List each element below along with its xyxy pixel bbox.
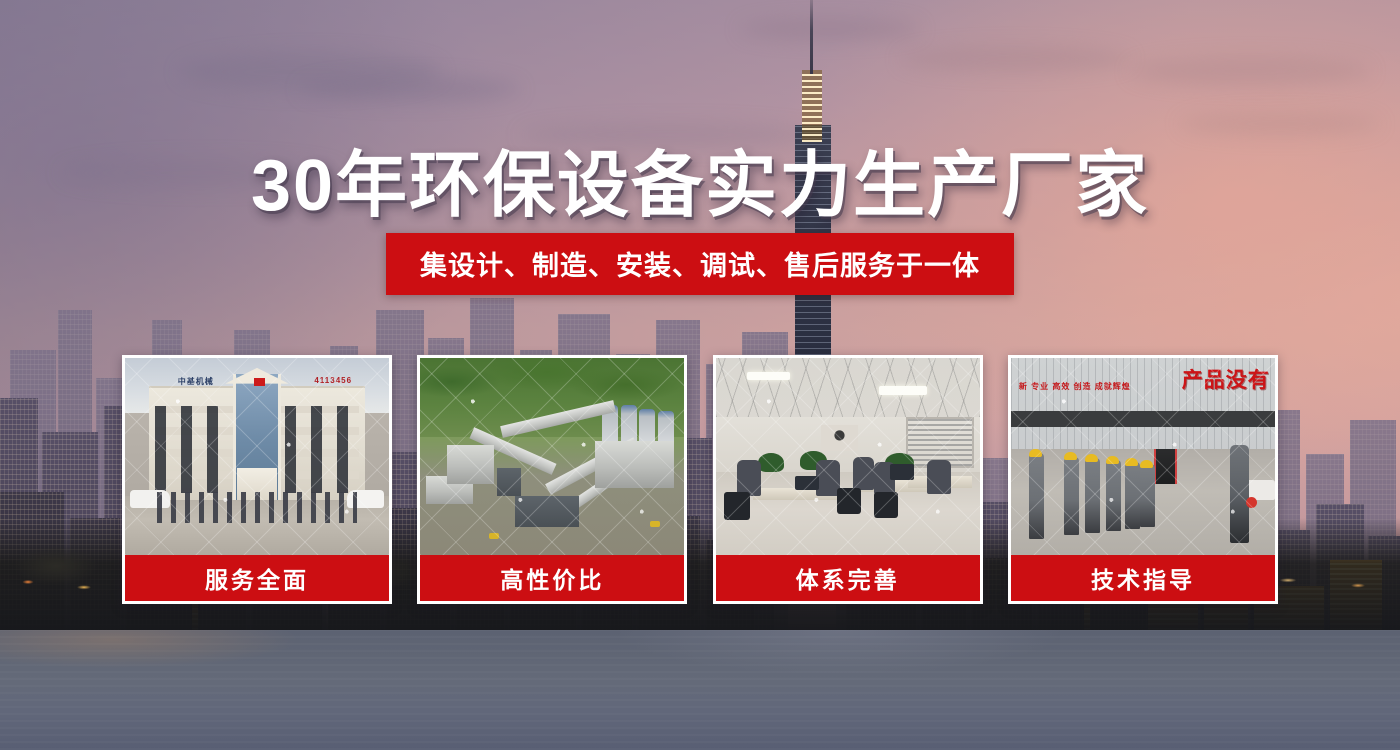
- photo-helmet: [1085, 454, 1098, 462]
- photo-ceiling-light: [747, 372, 789, 380]
- photo-plant-hall: [595, 441, 674, 488]
- photo-staff-row: [157, 492, 358, 524]
- aerial-plant-photo: [420, 358, 684, 555]
- photo-monitor: [795, 476, 819, 490]
- photo-silo: [658, 411, 674, 443]
- tower-spire: [810, 0, 813, 74]
- factory-sign-small: 新 专业 高效 创造 成就辉煌: [1019, 382, 1131, 392]
- photo-flag: [254, 378, 265, 386]
- factory-sign-big: 产品没有: [1182, 364, 1270, 394]
- photo-window-strip: [1011, 411, 1275, 427]
- subtitle-banner: 集设计、制造、安装、调试、售后服务于一体: [386, 233, 1014, 295]
- photo-chair: [837, 488, 861, 514]
- photo-scene: 中基机械 4113456: [125, 358, 389, 555]
- card-label-service: 服务全面: [125, 555, 389, 601]
- photo-factory-door: [1154, 449, 1178, 484]
- photo-plant-hall: [447, 445, 495, 484]
- building-phone-text: 4113456: [314, 376, 352, 385]
- feature-card-service[interactable]: 中基机械 4113456 服务全面: [122, 355, 392, 604]
- photo-worker: [1106, 460, 1121, 531]
- photo-wall-decal: [821, 425, 858, 451]
- photo-chair: [874, 492, 898, 518]
- company-building-staff-photo: 中基机械 4113456: [125, 358, 389, 555]
- card-label-value: 高性价比: [420, 555, 684, 601]
- photo-excavator: [650, 521, 660, 527]
- photo-ceiling: [716, 358, 980, 417]
- photo-helmet: [1064, 452, 1077, 460]
- office-interior-photo: [716, 358, 980, 555]
- photo-helmet: [1106, 456, 1119, 464]
- photo-worker: [1125, 462, 1140, 529]
- photo-silo: [639, 409, 655, 442]
- photo-plant: [758, 453, 784, 473]
- photo-helmet: [1125, 458, 1138, 466]
- river-water: [0, 630, 1400, 750]
- photo-worker: [1029, 453, 1044, 540]
- photo-worker: [1064, 457, 1079, 536]
- card-label-system: 体系完善: [716, 555, 980, 601]
- card-label-guidance: 技术指导: [1011, 555, 1275, 601]
- photo-monitor: [890, 464, 914, 480]
- feature-card-system[interactable]: 体系完善: [713, 355, 983, 604]
- feature-card-list: 中基机械 4113456 服务全面: [122, 355, 1278, 604]
- photo-worker: [1140, 464, 1155, 527]
- workers-training-photo: 产品没有 新 专业 高效 创造 成就辉煌: [1011, 358, 1275, 555]
- photo-worker: [1085, 458, 1100, 533]
- hero-banner: 30年环保设备实力生产厂家 集设计、制造、安装、调试、售后服务于一体 中基机械 …: [0, 0, 1400, 750]
- photo-scene: [716, 358, 980, 555]
- photo-shed: [497, 468, 521, 496]
- photo-ceiling-light: [879, 386, 927, 396]
- feature-card-guidance[interactable]: 产品没有 新 专业 高效 创造 成就辉煌: [1008, 355, 1278, 604]
- photo-supervisor: [1230, 445, 1249, 544]
- photo-person: [927, 460, 951, 493]
- photo-scene: 产品没有 新 专业 高效 创造 成就辉煌: [1011, 358, 1275, 555]
- page-title: 30年环保设备实力生产厂家: [0, 126, 1400, 231]
- photo-excavator: [489, 533, 499, 539]
- photo-shed: [515, 496, 578, 528]
- photo-scene: [420, 358, 684, 555]
- photo-helmet: [1140, 460, 1153, 468]
- building-sign-text: 中基机械: [178, 376, 214, 387]
- photo-red-helmet: [1246, 497, 1257, 508]
- photo-chair: [724, 492, 750, 520]
- photo-person: [737, 460, 761, 495]
- feature-card-value[interactable]: 高性价比: [417, 355, 687, 604]
- photo-person: [853, 457, 874, 490]
